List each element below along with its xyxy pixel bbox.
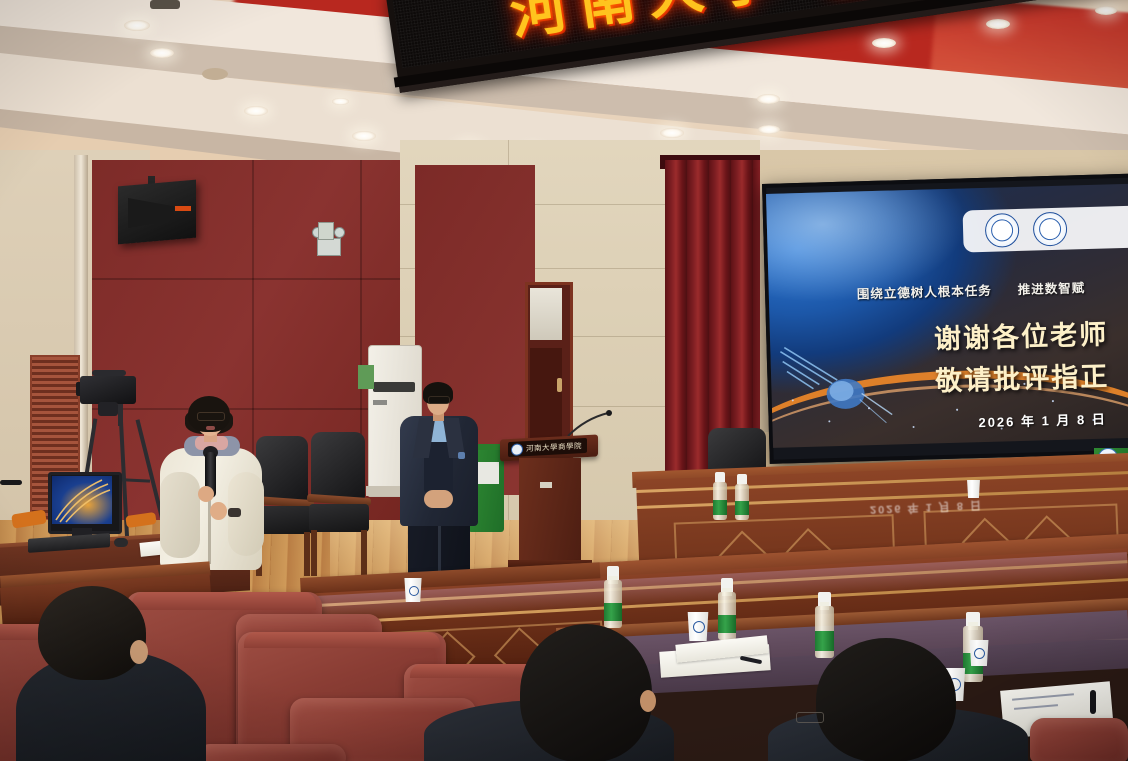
screen-subtitle-right: 推进数智赋 — [1018, 281, 1086, 297]
seat-top-edge — [132, 592, 316, 610]
ceiling-downlight — [352, 131, 376, 141]
video-camera — [80, 376, 136, 404]
bottle-label — [604, 603, 622, 621]
audience-left-head — [38, 586, 146, 680]
speaker-woman-mouth — [206, 426, 215, 430]
water-bottle[interactable] — [718, 578, 736, 640]
audience-center-ear — [640, 690, 656, 712]
ac-display-panel — [373, 400, 387, 405]
ceiling-downlight — [124, 20, 150, 31]
door-handle[interactable] — [557, 378, 562, 392]
ceiling-downlight — [150, 48, 174, 58]
speaker-woman-glasses-icon — [197, 412, 225, 421]
speaker-woman-hand-left — [198, 486, 214, 502]
speaker-brand-badge — [175, 206, 191, 211]
paper-cup[interactable] — [968, 640, 990, 666]
emergency-light-body — [317, 238, 341, 256]
water-bottle[interactable] — [604, 566, 622, 628]
paper-cup[interactable] — [403, 578, 423, 602]
conference-chair[interactable] — [305, 432, 377, 577]
wall-seam — [92, 278, 422, 280]
water-bottle[interactable] — [713, 472, 727, 520]
tripod-head — [98, 402, 118, 416]
audience-right-head — [816, 638, 956, 761]
door-glass-panel — [530, 288, 562, 340]
monitor-screen — [52, 476, 112, 524]
screen-headline-line2: 敬请批评指正 — [935, 354, 1110, 398]
bottle-cap — [715, 472, 725, 482]
jacket-badge — [458, 452, 465, 459]
bottle-cap — [737, 474, 747, 484]
speaker-woman-hand-right — [210, 502, 227, 520]
audience-center-head — [520, 624, 652, 761]
bottle-label — [713, 500, 727, 514]
seat-backrest — [1030, 718, 1128, 761]
school-logo-icon — [511, 443, 523, 456]
screen-headline-line1: 谢谢各位老师 — [934, 313, 1109, 357]
bottle-label — [735, 501, 749, 515]
speaker-woman-left-arm — [160, 472, 200, 558]
ceiling-vent-grille — [202, 68, 228, 80]
mouse[interactable] — [114, 538, 128, 547]
camera-handle — [92, 370, 126, 376]
audience-right-glasses-icon — [796, 712, 824, 723]
wall-control-panel[interactable] — [318, 222, 334, 240]
lectern-nameplate-text: 河南大學商學院 — [526, 440, 582, 454]
cup-logo-icon — [693, 621, 705, 633]
wall-notice-sign — [358, 365, 374, 389]
cup-logo-icon — [974, 648, 985, 659]
standing-man-glasses-icon — [428, 396, 450, 404]
chair-leg — [311, 530, 317, 576]
pen[interactable] — [1090, 690, 1096, 714]
ceiling-downlight — [244, 106, 268, 116]
lectern-body — [519, 458, 581, 570]
ceiling-downlight — [660, 128, 684, 138]
bottle-label — [718, 615, 736, 633]
seat-cushion — [196, 744, 346, 761]
water-bottle[interactable] — [815, 592, 834, 658]
bottle-body — [604, 580, 622, 628]
standing-man-clasped-hands — [424, 490, 453, 508]
podium-microphone — [566, 410, 612, 438]
bottle-body — [735, 484, 749, 520]
water-bottle[interactable] — [735, 474, 749, 520]
ceiling-downlight — [332, 98, 349, 105]
audience-left-ear — [130, 640, 148, 664]
bottle-body — [713, 482, 727, 520]
wristwatch — [228, 508, 241, 517]
paper-cup[interactable] — [966, 480, 981, 498]
university-logo-icon — [985, 213, 1020, 248]
conference-hall-photo: 河南大学"至善"骨干教 — [0, 0, 1128, 761]
lectern-control-button[interactable] — [540, 482, 552, 488]
screen-logo-bar — [963, 205, 1128, 252]
ac-vent-icon — [373, 382, 415, 392]
desk-microphone — [0, 480, 22, 485]
paper-cup[interactable] — [686, 612, 710, 641]
seat-top-edge — [244, 632, 440, 648]
ceiling-vent-grille — [150, 0, 180, 9]
screen-subtitle-left: 围绕立德树人根本任务 — [857, 284, 992, 302]
ceiling-downlight — [758, 125, 780, 134]
projection-screen: 围绕立德树人根本任务推进数智赋 谢谢各位老师 敬请批评指正 2026 年 1 月… — [766, 184, 1128, 448]
chair-backrest — [311, 432, 365, 500]
emergency-lamp-head-icon — [334, 227, 345, 238]
chair-seat — [309, 504, 369, 532]
bottle-body — [718, 592, 736, 640]
university-logo-icon — [1033, 212, 1068, 247]
cup-logo-icon — [409, 586, 419, 596]
auditorium-seat[interactable] — [1030, 718, 1128, 761]
chair-leg — [361, 530, 367, 576]
bottle-label — [815, 631, 834, 651]
satellite-graphic-icon — [778, 342, 900, 431]
auditorium-seat[interactable] — [196, 744, 346, 761]
bottle-body — [815, 606, 834, 658]
screen-date: 2026 年 1 月 8 日 — [978, 409, 1107, 432]
